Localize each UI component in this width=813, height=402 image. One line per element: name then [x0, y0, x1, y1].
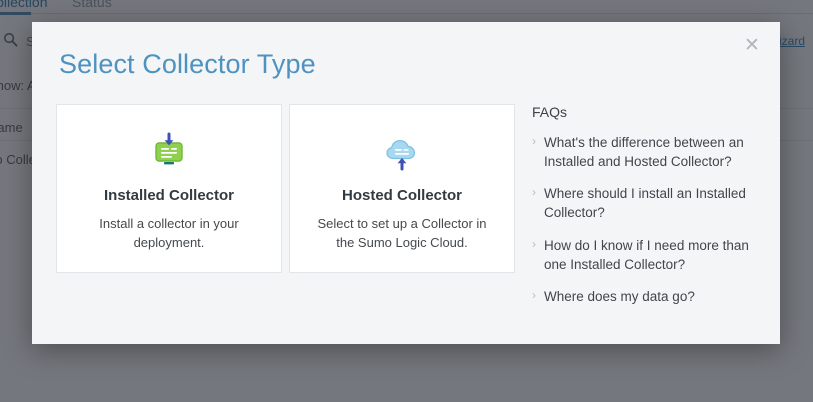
screen-root: Collection Status Search Wizard Show: A … — [0, 0, 813, 402]
chevron-right-icon: › — [532, 287, 536, 306]
chevron-right-icon: › — [532, 133, 536, 171]
card-hosted-collector[interactable]: Hosted Collector Select to set up a Coll… — [289, 104, 515, 273]
faq-item-2[interactable]: › How do I know if I need more than one … — [532, 236, 762, 274]
faqs-heading: FAQs — [532, 104, 762, 120]
card-description-installed: Install a collector in your deployment. — [77, 215, 262, 253]
faq-item-1[interactable]: › Where should I install an Installed Co… — [532, 184, 762, 222]
faq-item-0[interactable]: › What's the difference between an Insta… — [532, 133, 762, 171]
card-installed-collector[interactable]: Installed Collector Install a collector … — [56, 104, 282, 273]
select-collector-type-dialog: ✕ Select Collector Type — [32, 22, 780, 344]
faq-question-0: What's the difference between an Install… — [544, 133, 762, 171]
monitor-download-icon — [149, 131, 189, 173]
card-title-hosted: Hosted Collector — [342, 187, 462, 204]
chevron-right-icon: › — [532, 236, 536, 274]
cloud-upload-icon — [382, 131, 422, 173]
faq-question-1: Where should I install an Installed Coll… — [544, 184, 762, 222]
dialog-title: Select Collector Type — [59, 49, 316, 80]
card-title-installed: Installed Collector — [104, 187, 234, 204]
faq-question-2: How do I know if I need more than one In… — [544, 236, 762, 274]
card-description-hosted: Select to set up a Collector in the Sumo… — [310, 215, 495, 253]
faqs-panel: FAQs › What's the difference between an … — [532, 104, 762, 319]
faq-question-3: Where does my data go? — [544, 287, 695, 306]
faq-item-3[interactable]: › Where does my data go? — [532, 287, 762, 306]
collector-type-cards: Installed Collector Install a collector … — [56, 104, 515, 273]
chevron-right-icon: › — [532, 184, 536, 222]
close-icon[interactable]: ✕ — [741, 36, 763, 58]
